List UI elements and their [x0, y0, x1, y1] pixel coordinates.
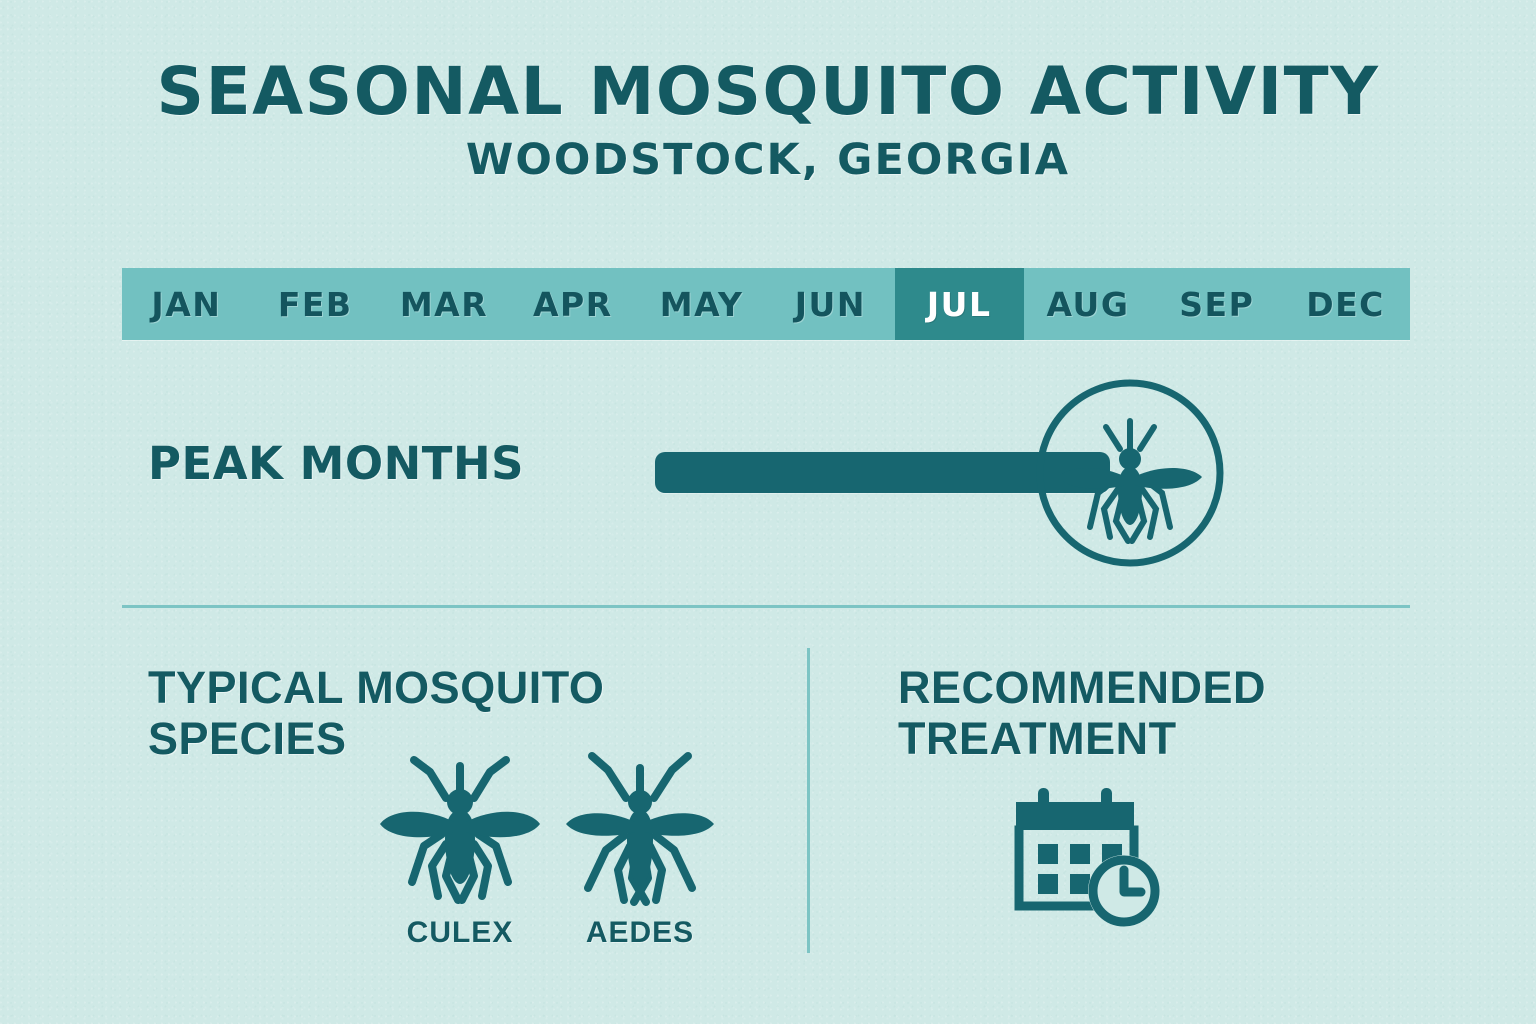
- month-cell-jun[interactable]: JUN: [766, 268, 895, 340]
- month-label: JUL: [927, 285, 992, 324]
- horizontal-divider: [122, 605, 1410, 608]
- page-title: SEASONAL MOSQUITO ACTIVITY: [0, 58, 1536, 125]
- species-item-aedes: AEDES: [552, 742, 728, 950]
- month-label: JUN: [795, 285, 866, 324]
- vertical-divider: [807, 648, 810, 953]
- month-label: MAY: [660, 285, 744, 324]
- month-label: DEC: [1306, 285, 1385, 324]
- header: SEASONAL MOSQUITO ACTIVITY WOODSTOCK, GE…: [0, 58, 1536, 185]
- calendar-clock-icon: [1008, 786, 1168, 931]
- month-cell-jul-selected[interactable]: JUL: [895, 268, 1024, 340]
- month-cell-apr[interactable]: APR: [508, 268, 637, 340]
- treatment-section-heading: RECOMMENDED TREATMENT: [898, 662, 1368, 765]
- month-cell-jan[interactable]: JAN: [122, 268, 251, 340]
- month-label: AUG: [1047, 285, 1130, 324]
- month-label: MAR: [400, 285, 488, 324]
- month-cell-sep[interactable]: SEP: [1152, 268, 1281, 340]
- month-label: APR: [533, 285, 613, 324]
- species-name: AEDES: [552, 916, 728, 950]
- mosquito-icon: [372, 742, 548, 912]
- mosquito-icon: [552, 742, 728, 912]
- species-name: CULEX: [372, 916, 548, 950]
- month-label: FEB: [278, 285, 353, 324]
- month-cell-mar[interactable]: MAR: [380, 268, 509, 340]
- peak-months-label: PEAK MONTHS: [148, 437, 524, 490]
- month-cell-dec[interactable]: DEC: [1281, 268, 1410, 340]
- month-label: JAN: [151, 285, 221, 324]
- month-cell-aug[interactable]: AUG: [1024, 268, 1153, 340]
- mosquito-in-circle-icon: [1032, 375, 1228, 571]
- page-subtitle: WOODSTOCK, GEORGIA: [0, 135, 1536, 185]
- species-item-culex: CULEX: [372, 742, 548, 950]
- month-cell-feb[interactable]: FEB: [251, 268, 380, 340]
- month-strip[interactable]: JAN FEB MAR APR MAY JUN JUL AUG SEP DEC: [122, 268, 1410, 340]
- month-label: SEP: [1179, 285, 1254, 324]
- month-cell-may[interactable]: MAY: [637, 268, 766, 340]
